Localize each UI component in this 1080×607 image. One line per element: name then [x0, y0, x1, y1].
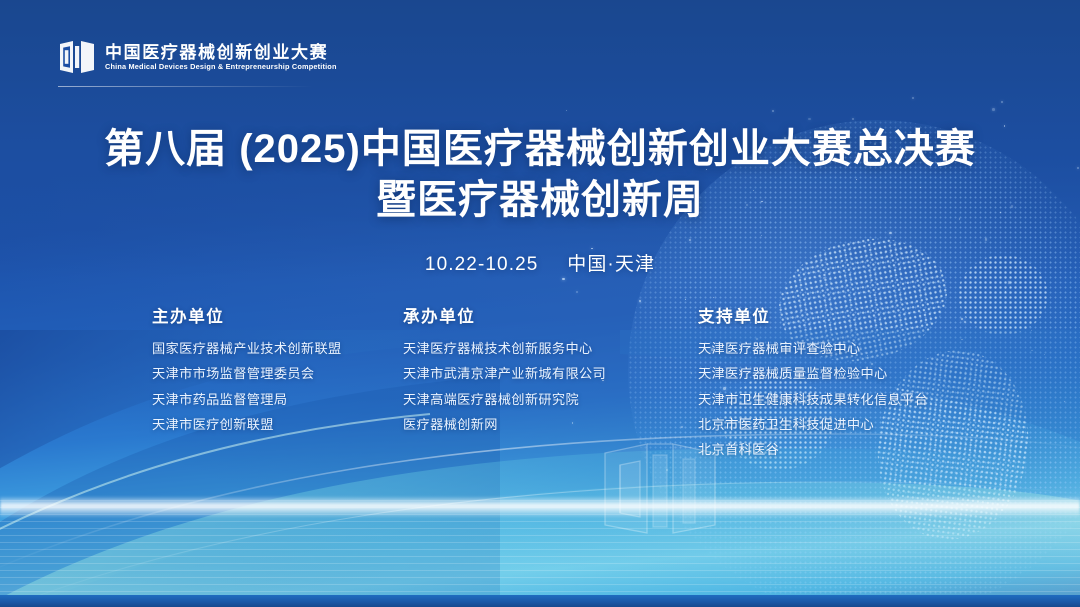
- star-speck: [562, 278, 565, 281]
- org-list: 天津医疗器械审评查验中心 天津医疗器械质量监督检验中心 天津市卫生健康科技成果转…: [698, 336, 928, 463]
- list-item: 天津市市场监督管理委员会: [152, 361, 342, 386]
- bottom-edge-bar: [0, 595, 1080, 607]
- star-speck: [1008, 281, 1010, 283]
- list-item: 天津医疗器械技术创新服务中心: [403, 336, 606, 361]
- list-item: 天津市药品监督管理局: [152, 387, 342, 412]
- star-speck: [823, 277, 825, 279]
- org-heading: 支持单位: [698, 303, 928, 327]
- poster-canvas: 中国医疗器械创新创业大赛 China Medical Devices Desig…: [0, 0, 1080, 607]
- org-column-organizers: 承办单位 天津医疗器械技术创新服务中心 天津市武清京津产业新城有限公司 天津高端…: [403, 303, 606, 437]
- star-speck: [1005, 291, 1006, 292]
- list-item: 天津市医疗创新联盟: [152, 412, 342, 437]
- org-list: 国家医疗器械产业技术创新联盟 天津市市场监督管理委员会 天津市药品监督管理局 天…: [152, 336, 342, 437]
- star-speck: [685, 299, 687, 301]
- list-item: 北京首科医谷: [698, 437, 928, 462]
- org-heading: 承办单位: [403, 303, 606, 327]
- star-speck: [889, 232, 892, 235]
- event-location: 中国·天津: [567, 254, 655, 275]
- logo-chinese-name: 中国医疗器械创新创业大赛: [105, 44, 332, 62]
- title-line-1: 第八届 (2025)中国医疗器械创新创业大赛总决赛: [104, 127, 976, 171]
- org-heading: 主办单位: [152, 303, 342, 327]
- star-speck: [576, 291, 578, 293]
- star-speck: [772, 110, 775, 113]
- list-item: 天津医疗器械质量监督检验中心: [698, 361, 928, 386]
- list-item: 天津高端医疗器械创新研究院: [403, 387, 606, 412]
- star-speck: [761, 235, 762, 236]
- competition-logo: 中国医疗器械创新创业大赛 China Medical Devices Desig…: [58, 38, 332, 76]
- org-column-supporters: 支持单位 天津医疗器械审评查验中心 天津医疗器械质量监督检验中心 天津市卫生健康…: [698, 303, 928, 463]
- logo-underline: [58, 86, 313, 87]
- star-speck: [992, 108, 995, 111]
- star-speck: [852, 118, 854, 120]
- organizations-section: 主办单位 国家医疗器械产业技术创新联盟 天津市市场监督管理委员会 天津市药品监督…: [0, 303, 1080, 463]
- star-speck: [566, 110, 567, 111]
- event-date-location: 10.22-10.25 中国·天津: [0, 249, 1080, 276]
- star-speck: [689, 239, 691, 241]
- star-speck: [639, 300, 641, 302]
- star-speck: [912, 97, 915, 100]
- logo-english-name: China Medical Devices Design & Entrepren…: [105, 63, 337, 71]
- list-item: 国家医疗器械产业技术创新联盟: [152, 336, 342, 361]
- star-speck: [985, 238, 987, 240]
- org-list: 天津医疗器械技术创新服务中心 天津市武清京津产业新城有限公司 天津高端医疗器械创…: [403, 336, 606, 437]
- star-speck: [1001, 101, 1003, 103]
- org-column-hosts: 主办单位 国家医疗器械产业技术创新联盟 天津市市场监督管理委员会 天津市药品监督…: [152, 303, 342, 437]
- logo-text-block: 中国医疗器械创新创业大赛 China Medical Devices Desig…: [105, 44, 332, 70]
- list-item: 天津市武清京津产业新城有限公司: [403, 361, 606, 386]
- title-line-2: 暨医疗器械创新周: [0, 175, 1080, 226]
- list-item: 北京市医药卫生科技促进中心: [698, 412, 928, 437]
- star-speck: [940, 289, 941, 290]
- list-item: 医疗器械创新网: [403, 412, 606, 437]
- page-title: 第八届 (2025)中国医疗器械创新创业大赛总决赛 暨医疗器械创新周: [0, 124, 1080, 226]
- star-speck: [713, 297, 714, 298]
- list-item: 天津市卫生健康科技成果转化信息平台: [698, 387, 928, 412]
- water-reflection-stripes-icon: [0, 500, 1080, 607]
- list-item: 天津医疗器械审评查验中心: [698, 336, 928, 361]
- open-door-gate-icon: [58, 38, 96, 76]
- event-date: 10.22-10.25: [425, 254, 539, 275]
- star-speck: [808, 118, 811, 121]
- logo-mark-svg: [58, 38, 96, 76]
